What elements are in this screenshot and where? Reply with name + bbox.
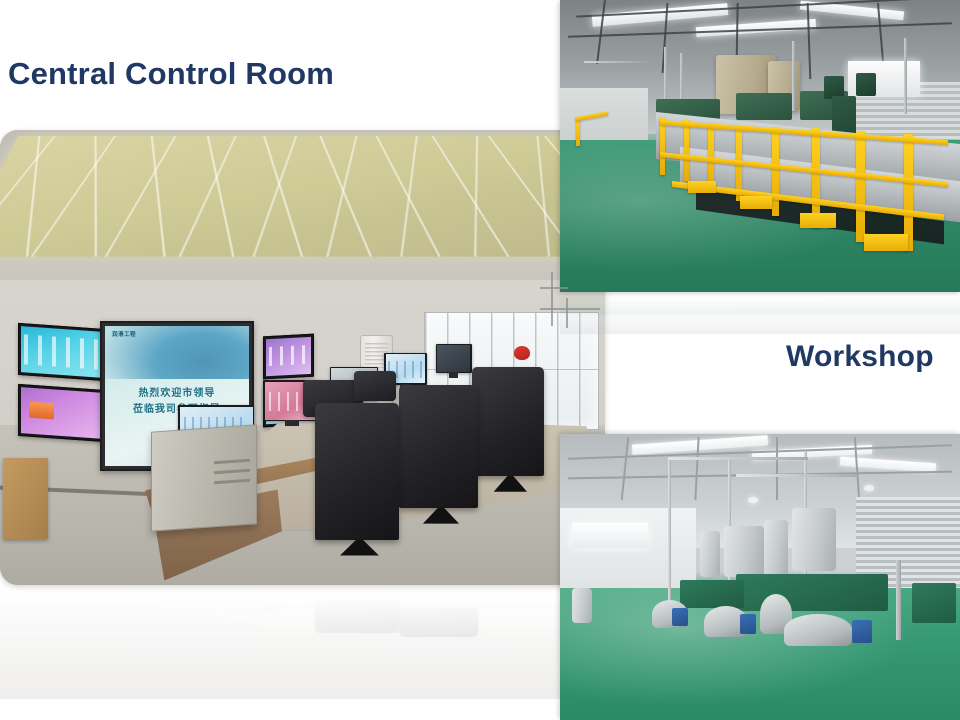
photo-workshop-production-line-reflection: [560, 292, 960, 334]
ws-reflection-fill: [560, 292, 960, 334]
cr-desk-monitor-screen: [437, 345, 470, 372]
cr-operator-chair: [472, 367, 545, 476]
photo-central-control-room[interactable]: 润滑工程 热烈欢迎市领导 莅临我司参观指导: [0, 130, 605, 585]
w2-overhead-pipe: [668, 457, 808, 460]
cr-operator-chair: [399, 385, 478, 508]
cr-wall-tv-top-right: [263, 333, 314, 379]
ws-guard-post-left: [576, 117, 580, 146]
cr-equipment-cabinet: [151, 424, 257, 531]
cr-desk-monitor: [436, 344, 472, 374]
w2-vertical-tank: [792, 508, 836, 571]
cr-tv-screen-purple: [21, 387, 103, 439]
cr-reflection-chair: [315, 600, 400, 633]
cr-tv-screen-blue: [21, 326, 103, 378]
decor-frame-line-horizontal: [540, 308, 600, 310]
cr-meeting-sofa: [354, 371, 396, 401]
ws-reflection-scene: [560, 292, 960, 334]
cr-ceiling-light-panel: [0, 136, 605, 257]
w2-ceiling-lamp: [748, 497, 758, 503]
w2-structural-column: [896, 560, 901, 640]
cr-reflection-fill: [0, 589, 605, 699]
w2-green-machine-skid: [736, 574, 888, 611]
cr-wooden-cabinet: [3, 458, 48, 540]
cr-tv-screen-violet: [266, 337, 311, 377]
w2-condenser-coil: [764, 520, 788, 577]
control-room-reflection-scene: [0, 589, 605, 699]
w2-small-cabinet: [572, 588, 592, 622]
photo-workshop-tanks[interactable]: [560, 434, 960, 720]
w2-overhead-pipe: [736, 474, 856, 477]
ws-safety-rail-vertical: [772, 128, 779, 216]
w2-roof-truss: [776, 437, 778, 500]
w2-overhead-pipe: [668, 457, 671, 606]
decor-frame-line-horizontal: [540, 287, 568, 289]
cr-wall-tv-bottom-left: [18, 384, 106, 442]
cr-desk-monitor-stand: [449, 372, 458, 378]
ws-machine-unit: [736, 93, 792, 119]
slide-canvas: Central Control Room: [0, 0, 960, 720]
w2-blue-pump: [852, 620, 872, 643]
w2-blue-pump: [672, 608, 688, 625]
photo-central-control-room-reflection: [0, 589, 605, 699]
cr-reflection-chair: [399, 608, 478, 638]
w2-window: [572, 523, 648, 549]
cr-projector-welcome-line-1: 热烈欢迎市领导: [105, 386, 249, 402]
ws-hazard-skirt: [800, 213, 836, 228]
page-title-central-control-room: Central Control Room: [8, 56, 334, 92]
ws-motor: [856, 73, 876, 96]
control-room-scene: 润滑工程 热烈欢迎市领导 莅临我司参观指导: [0, 130, 605, 585]
ws-safety-rail-vertical: [660, 117, 665, 175]
ws-pipe: [584, 61, 648, 63]
cr-reflection-desk-front: [151, 590, 369, 612]
workshop-tanks-scene: [560, 434, 960, 720]
ws-pipe: [904, 38, 907, 114]
w2-storage-rack: [912, 583, 956, 623]
cr-desk-monitor-stand: [285, 420, 299, 426]
decor-frame-line-vertical: [566, 298, 568, 328]
w2-green-machine-skid: [680, 580, 744, 609]
page-title-workshop: Workshop: [786, 340, 934, 374]
workshop-line-scene: [560, 0, 960, 292]
cr-reflection-floor: [0, 589, 605, 699]
cr-operator-red-cap: [514, 346, 530, 360]
ws-hazard-skirt: [740, 196, 772, 209]
photo-workshop-production-line[interactable]: [560, 0, 960, 292]
ws-hazard-skirt: [864, 234, 908, 252]
ws-safety-rail-vertical: [856, 131, 865, 242]
cr-projector-logo: 润滑工程: [112, 332, 136, 339]
cr-wall-tv-top-left: [18, 323, 106, 381]
ws-safety-rail-vertical: [684, 120, 689, 181]
w2-vertical-tank: [724, 526, 764, 577]
w2-condenser-coil: [700, 531, 720, 577]
ws-pipe: [792, 41, 795, 111]
decor-frame-line-vertical: [551, 272, 553, 326]
w2-stainless-drum: [784, 614, 852, 645]
cr-reflection-desk: [145, 602, 587, 631]
w2-blue-pump: [740, 614, 756, 634]
ws-hazard-skirt: [688, 181, 716, 193]
cr-operator-chair: [315, 403, 400, 540]
ws-reflection-floor: [560, 292, 960, 314]
